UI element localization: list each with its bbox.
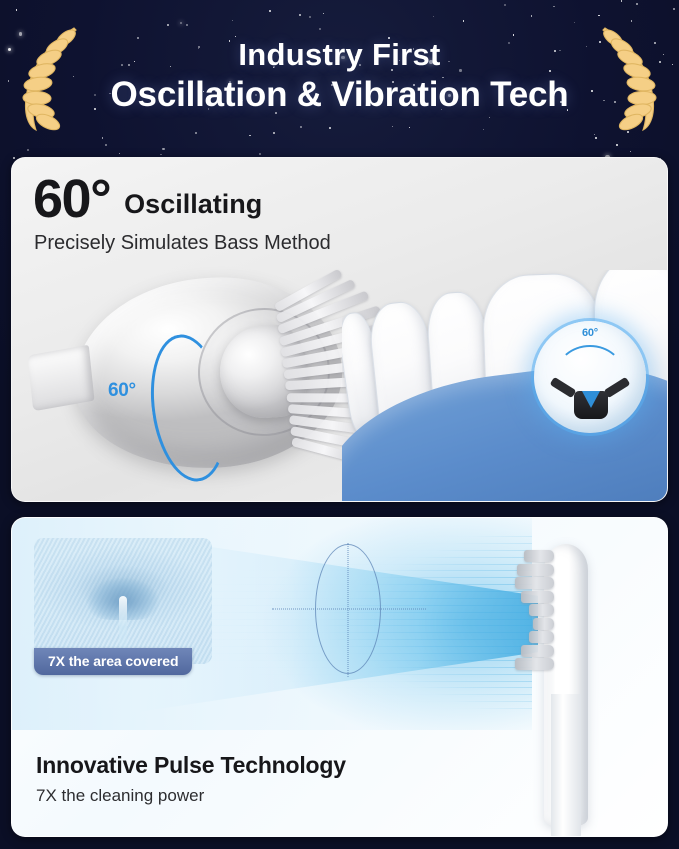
bristle bbox=[524, 550, 554, 562]
oscillation-arc-label: 60° bbox=[108, 380, 136, 402]
spray-streak bbox=[236, 674, 532, 675]
spray-cross-section-marker bbox=[315, 544, 381, 674]
spray-streak bbox=[412, 536, 532, 537]
marker-horizontal-axis bbox=[272, 609, 426, 610]
bristle bbox=[533, 618, 554, 630]
spray-streak bbox=[374, 701, 532, 702]
bristle bbox=[529, 631, 554, 643]
pulse-subtitle: 7X the cleaning power bbox=[36, 786, 204, 806]
spray-streak bbox=[236, 570, 532, 571]
header-title-line2: Oscillation & Vibration Tech bbox=[111, 75, 569, 115]
inset-degree-label: 60° bbox=[534, 327, 646, 339]
panel-pulse: 7X the area covered Innovative Pulse Tec… bbox=[11, 517, 668, 837]
oscillation-inset-diagram: 60° bbox=[534, 321, 646, 433]
marker-vertical-axis bbox=[348, 543, 349, 677]
bristle bbox=[521, 591, 554, 603]
header-title-line1: Industry First bbox=[238, 37, 440, 73]
laurel-right-icon bbox=[591, 22, 665, 134]
spray-streak bbox=[337, 550, 532, 551]
oscillation-degrees: 60° bbox=[33, 172, 110, 226]
area-covered-badge: 7X the area covered bbox=[34, 648, 192, 675]
oscillation-subtitle: Precisely Simulates Bass Method bbox=[34, 232, 331, 255]
toothbrush-head bbox=[510, 544, 622, 834]
product-feature-image: Industry First Oscillation & Vibration T… bbox=[0, 0, 679, 849]
bristle bbox=[529, 604, 554, 616]
toothbrush-neck bbox=[551, 694, 581, 836]
inset-center-wedge bbox=[582, 391, 600, 408]
bristle bbox=[521, 645, 554, 657]
oscillation-mode-label: Oscillating bbox=[124, 191, 262, 218]
toothbrush-bristles bbox=[510, 550, 554, 672]
spray-streak bbox=[267, 681, 532, 682]
spray-streak bbox=[337, 694, 532, 695]
spray-streak bbox=[374, 543, 532, 544]
brush-neck bbox=[27, 345, 94, 411]
spray-streak bbox=[207, 667, 532, 668]
water-plume-inset bbox=[34, 538, 212, 664]
pulse-title: Innovative Pulse Technology bbox=[36, 752, 346, 779]
spray-streak bbox=[267, 564, 532, 565]
panel-oscillation: 60° 60° 60° Oscillating bbox=[11, 157, 668, 502]
oscillation-heading: 60° Oscillating bbox=[33, 172, 262, 226]
bristle bbox=[517, 564, 554, 576]
header-banner: Industry First Oscillation & Vibration T… bbox=[0, 0, 679, 152]
bristle bbox=[515, 577, 554, 589]
spray-streak bbox=[302, 687, 532, 688]
bristle bbox=[515, 658, 554, 670]
